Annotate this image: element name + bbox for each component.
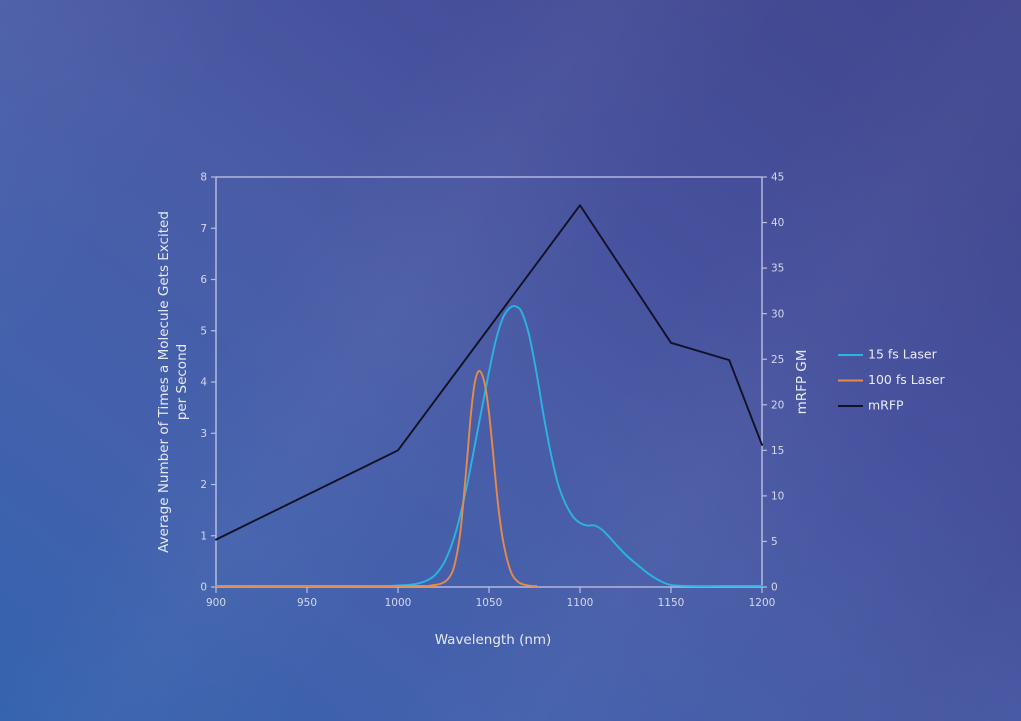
y-right-tick-label: 35 [771, 263, 784, 275]
y-right-tick-label: 30 [771, 308, 784, 320]
y-right-tick-label: 0 [771, 582, 778, 594]
y-left-tick-label: 5 [200, 325, 207, 337]
y-right-tick-label: 25 [771, 354, 784, 366]
legend-label-0: 15 fs Laser [868, 347, 938, 362]
y-axis-left-title-line1: Average Number of Times a Molecule Gets … [156, 211, 172, 553]
y-right-tick-label: 20 [771, 399, 784, 411]
y-right-tick-label: 10 [771, 490, 784, 502]
y-right-tick-label: 5 [771, 536, 778, 548]
y-axis-right-ticks: 051015202530354045 [762, 172, 784, 594]
x-tick-label: 1100 [567, 597, 594, 609]
x-tick-label: 900 [206, 597, 226, 609]
chart-legend: 15 fs Laser100 fs LasermRFP [838, 347, 946, 413]
series-group [216, 205, 762, 586]
y-right-tick-label: 45 [771, 172, 784, 184]
y-axis-right-title: mRFP GM [794, 350, 810, 415]
y-left-tick-label: 7 [200, 223, 207, 235]
y-left-tick-label: 0 [200, 582, 207, 594]
y-left-tick-label: 8 [200, 172, 207, 184]
axis-frame-path [216, 177, 762, 587]
y-axis-left-ticks: 012345678 [200, 172, 216, 594]
series-line-100-fs-laser [216, 371, 536, 586]
x-tick-label: 1200 [749, 597, 776, 609]
x-tick-label: 1050 [476, 597, 503, 609]
chart-page: 012345678 051015202530354045 90095010001… [0, 0, 1021, 721]
y-axis-left-title-line2: per Second [174, 344, 190, 420]
series-line-15-fs-laser [216, 306, 762, 586]
legend-label-2: mRFP [868, 398, 904, 413]
legend-label-1: 100 fs Laser [868, 372, 946, 387]
y-left-tick-label: 1 [200, 530, 207, 542]
x-axis-title: Wavelength (nm) [435, 632, 552, 648]
y-left-tick-label: 4 [200, 377, 207, 389]
x-tick-label: 1000 [385, 597, 412, 609]
x-axis-ticks: 90095010001050110011501200 [206, 587, 775, 609]
x-tick-label: 950 [297, 597, 317, 609]
y-left-tick-label: 2 [200, 479, 207, 491]
y-left-tick-label: 3 [200, 428, 207, 440]
y-right-tick-label: 40 [771, 217, 784, 229]
x-tick-label: 1150 [658, 597, 685, 609]
y-right-tick-label: 15 [771, 445, 784, 457]
plot-frame [216, 177, 762, 587]
y-left-tick-label: 6 [200, 274, 207, 286]
two-photon-excitation-line-chart: 012345678 051015202530354045 90095010001… [0, 0, 1021, 721]
